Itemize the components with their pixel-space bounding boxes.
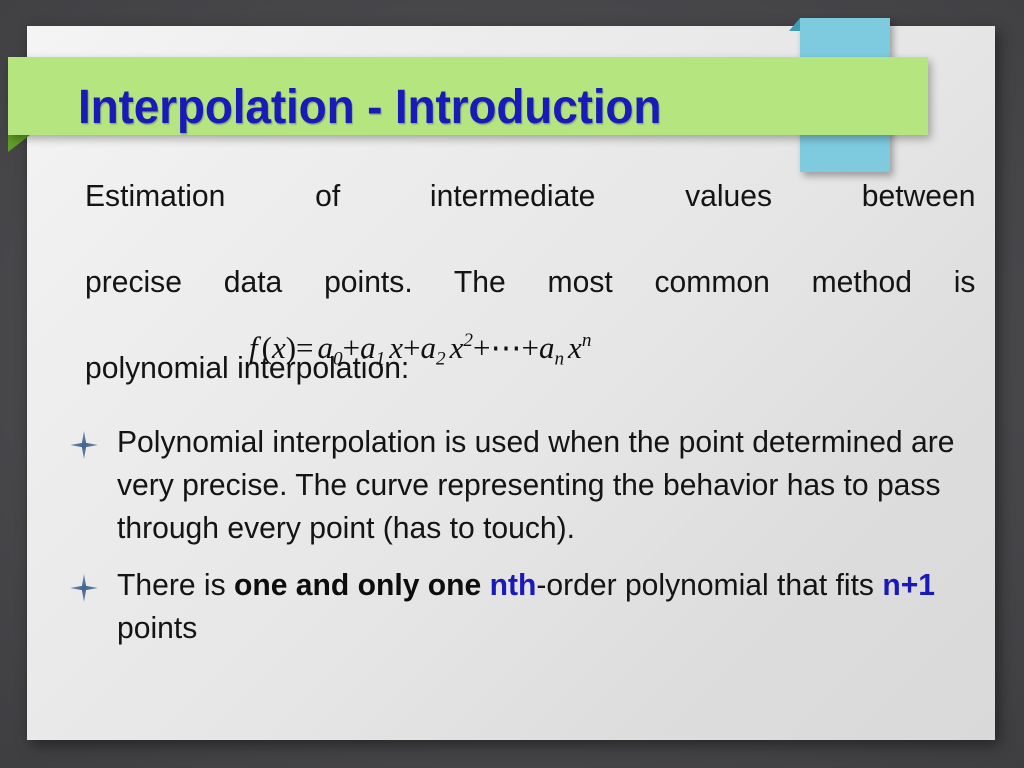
formula-sub-n: n — [554, 348, 564, 369]
bullet-2-segment-2: one and only one — [234, 567, 481, 602]
formula-x-1: x — [389, 330, 403, 365]
formula-x-2: x — [450, 330, 464, 365]
formula-var-x: x — [272, 330, 286, 365]
list-item: Polynomial interpolation is used when th… — [63, 420, 1013, 549]
presentation-slide: Interpolation - Introduction Estimation … — [0, 0, 1024, 768]
formula-sub-1: 1 — [376, 348, 386, 369]
list-item-text: There is one and only one nth-order poly… — [117, 563, 986, 649]
polynomial-formula: f(x)=a0+a1x+a2x2+⋯+anxn — [249, 330, 591, 370]
blue-ribbon-fold-icon — [789, 18, 800, 31]
formula-sub-2: 2 — [436, 348, 446, 369]
formula-plus-1: + — [343, 330, 360, 365]
bullet-2-segment-1: There is — [117, 567, 234, 602]
formula-sup-n: n — [582, 330, 592, 351]
formula-sup-2: 2 — [463, 330, 473, 351]
formula-fn: f — [249, 330, 258, 365]
sparkle-icon — [69, 428, 99, 458]
list-item-text: Polynomial interpolation is used when th… — [117, 420, 986, 549]
formula-equals: = — [296, 330, 313, 365]
bullet-2-segment-5: -order polynomial that fits — [536, 567, 882, 602]
formula-a1: a — [360, 330, 376, 365]
formula-plus-2: + — [403, 330, 420, 365]
formula-a0: a — [318, 330, 334, 365]
bullet-1-segment-1: Polynomial interpolation is used when th… — [117, 424, 954, 545]
page-title: Interpolation - Introduction — [78, 80, 661, 135]
formula-sub-0: 0 — [333, 348, 343, 369]
formula-x-n: x — [568, 330, 582, 365]
bullet-2-segment-3 — [481, 567, 489, 602]
formula-open-paren: ( — [262, 330, 272, 365]
intro-line-1: Estimation of intermediate values betwee… — [85, 174, 975, 260]
formula-an: a — [539, 330, 555, 365]
formula-close-paren: ) — [286, 330, 296, 365]
title-banner-fold-icon — [8, 135, 30, 152]
list-item: There is one and only one nth-order poly… — [63, 563, 1013, 649]
sparkle-icon — [69, 571, 99, 601]
bullet-2-segment-7: points — [117, 610, 197, 645]
bullet-list: Polynomial interpolation is used when th… — [63, 420, 1013, 663]
formula-a2: a — [420, 330, 436, 365]
bullet-2-segment-6: n+1 — [882, 567, 935, 602]
formula-ellipsis: +⋯+ — [473, 330, 539, 365]
bullet-2-segment-4: nth — [490, 567, 537, 602]
